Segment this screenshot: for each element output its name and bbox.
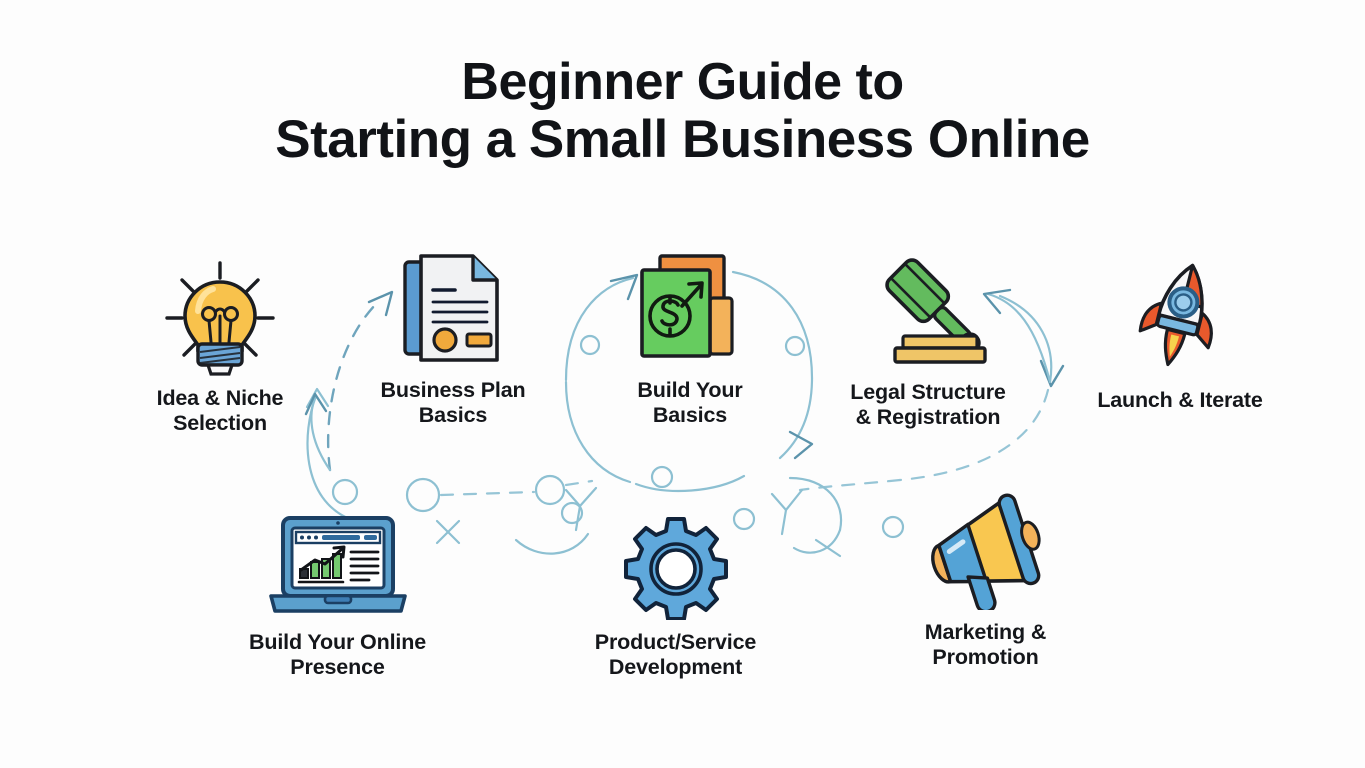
document-icon-wrap <box>338 248 568 368</box>
gear-icon-wrap <box>558 500 793 620</box>
money-growth-icon-wrap <box>575 248 805 368</box>
step-build-online-presence[interactable]: Build Your Online Presence <box>220 500 455 681</box>
step-label-money: Build Your Baısics <box>575 378 805 429</box>
step-label-online: Build Your Online Presence <box>220 630 455 681</box>
laptop-dashboard-icon <box>265 514 411 620</box>
megaphone-icon <box>920 492 1052 610</box>
title-line-1: Beginner Guide to <box>0 54 1365 111</box>
step-label-legal: Legal Structure & Registration <box>813 380 1043 431</box>
megaphone-icon-wrap <box>868 490 1103 610</box>
step-business-plan-basics[interactable]: Business Plan Basics <box>338 248 568 429</box>
node-circle-middle-bottom <box>652 467 672 487</box>
step-label-plan: Business Plan Basics <box>338 378 568 429</box>
gear-icon <box>624 516 728 620</box>
step-launch-iterate[interactable]: Launch & Iterate <box>1055 258 1305 413</box>
step-label-idea: Idea & Niche Selection <box>105 386 335 437</box>
page-title: Beginner Guide to Starting a Small Busin… <box>0 54 1365 168</box>
step-label-marketing: Marketing & Promotion <box>868 620 1103 671</box>
lightbulb-icon <box>161 256 279 376</box>
gavel-icon-wrap <box>813 250 1043 370</box>
rocket-icon-wrap <box>1055 258 1305 378</box>
money-growth-icon <box>634 250 746 368</box>
step-legal-structure-registration[interactable]: Legal Structure & Registration <box>813 250 1043 431</box>
infographic-canvas: Beginner Guide to Starting a Small Busin… <box>0 0 1365 768</box>
document-icon <box>397 250 509 368</box>
step-marketing-promotion[interactable]: Marketing & Promotion <box>868 490 1103 671</box>
gavel-icon <box>867 252 989 370</box>
step-build-your-basics[interactable]: Build Your Baısics <box>575 248 805 429</box>
step-label-product: Product/Service Development <box>558 630 793 681</box>
lightbulb-icon-wrap <box>105 256 335 376</box>
laptop-dashboard-icon-wrap <box>220 500 455 620</box>
step-label-launch: Launch & Iterate <box>1055 388 1305 413</box>
title-line-2: Starting a Small Business Online <box>0 111 1365 169</box>
step-product-service-development[interactable]: Product/Service Development <box>558 500 793 681</box>
step-idea-niche-selection[interactable]: Idea & Niche Selection <box>105 256 335 437</box>
arc-middle-bottom <box>636 476 744 491</box>
rocket-icon <box>1127 258 1233 378</box>
